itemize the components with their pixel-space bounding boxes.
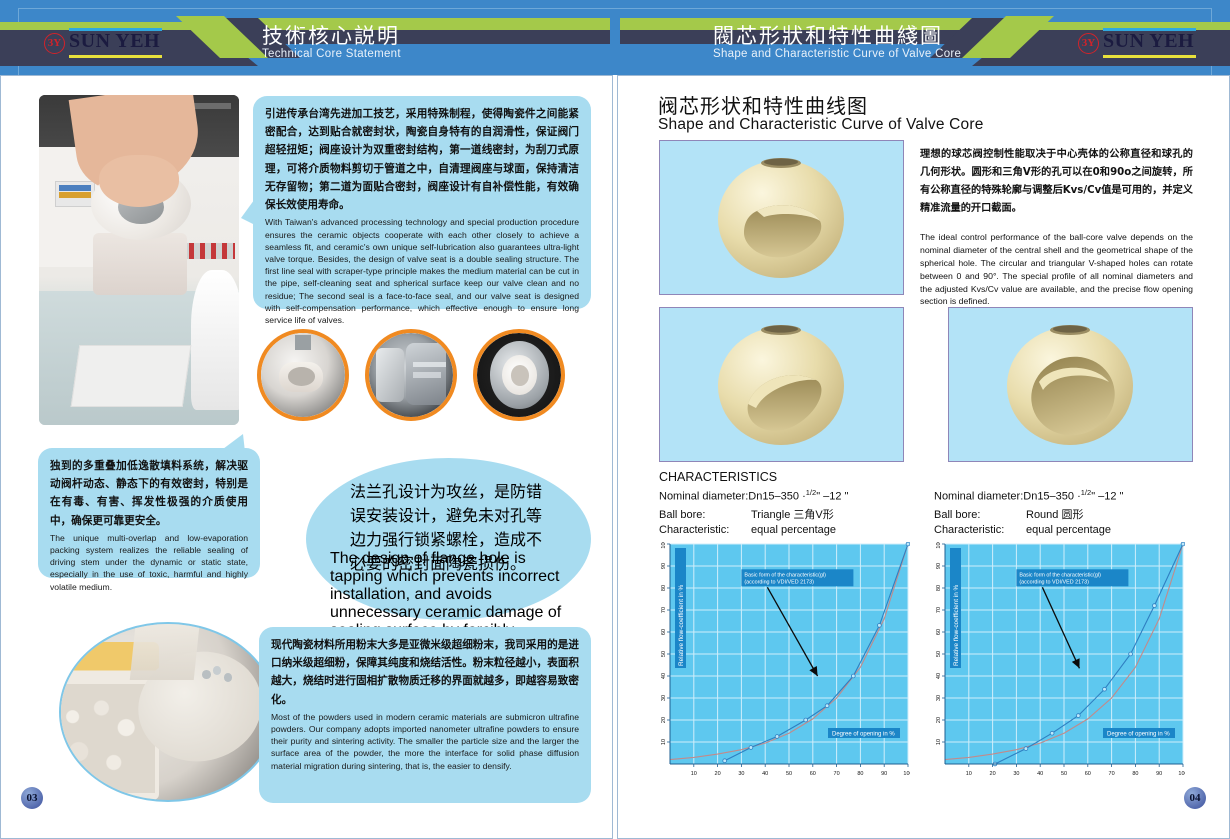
x-tick-label: 10 [966, 771, 972, 777]
page-header: 3Y SUN YEH 技術核心説明 Technical Core Stateme… [0, 0, 1230, 75]
right-page-title-en: Shape and Characteristic Curve of Valve … [658, 116, 984, 134]
header-left-title-cn: 技術核心説明 [262, 20, 400, 50]
y-tick-label: 50 [936, 651, 942, 657]
right-page-title-cn: 阀芯形状和特性曲线图 [658, 90, 868, 119]
logo-mark-icon: 3Y [44, 33, 65, 54]
image-valve-core-triangle [659, 307, 904, 462]
y-tick-label: 70 [936, 607, 942, 613]
bubble-packing-cn: 独到的多重叠加低逸散填料系统，解决驱动阀杆动态、静态下的有效密封，特别是在有毒、… [50, 457, 248, 530]
y-tick-label: 20 [936, 717, 942, 723]
logo-right: 3Y SUN YEH [1078, 26, 1198, 60]
data-point-marker [1153, 604, 1157, 608]
x-tick-label: 50 [786, 771, 792, 777]
spec-right-nominal-rest: " –12 " [1091, 491, 1123, 503]
spec-left-bore: Ball bore:Triangle 三角V形 [659, 506, 834, 522]
right-page: 阀芯形状和特性曲线图 Shape and Characteristic Curv… [617, 75, 1230, 839]
y-tick-label: 100 [661, 542, 667, 549]
left-page: 引进传承台湾先进加工技艺，采用特殊制程，使得陶瓷件之间能紧密配合，达到贴合就密封… [0, 75, 613, 839]
x-tick-label: 90 [881, 771, 887, 777]
y-tick-label: 30 [936, 695, 942, 701]
x-tick-label: 80 [1132, 771, 1138, 777]
data-point-marker [851, 674, 855, 678]
spec-left-bore-label: Ball bore: [659, 509, 751, 521]
spec-left-nominal-label: Nominal diameter:Dn15–350 · [659, 491, 806, 503]
annotation-line-2: (according to VDI/VED 2173) [1019, 579, 1089, 585]
valve-core-triangle-bore-icon [660, 308, 903, 461]
data-point-marker [906, 542, 910, 546]
spec-right-nominal: Nominal diameter:Dn15–350 ·1/2" –12 " [934, 488, 1123, 503]
y-tick-label: 10 [936, 739, 942, 745]
spec-right-characteristic: Characteristic:equal percentage [934, 524, 1111, 536]
spec-left-nominal-rest: " –12 " [816, 491, 848, 503]
bubble-packing-en: The unique multi-overlap and low-evapora… [50, 532, 248, 593]
data-point-marker [804, 718, 808, 722]
bubble-sealing-en: With Taiwan's advanced processing techno… [265, 216, 579, 326]
intro-paragraph-en: The ideal control performance of the bal… [920, 231, 1193, 308]
spec-right-bore-label: Ball bore: [934, 509, 1026, 521]
spec-right-bore: Ball bore:Round 圆形 [934, 506, 1083, 522]
logo-bar-bottom [69, 55, 162, 58]
bubble-powder-en: Most of the powders used in modern ceram… [271, 711, 579, 772]
brochure-spread: 3Y SUN YEH 技術核心説明 Technical Core Stateme… [0, 0, 1230, 839]
x-tick-label: 100 [1178, 771, 1185, 777]
x-tick-label: 50 [1061, 771, 1067, 777]
y-tick-label: 10 [661, 739, 667, 745]
x-tick-label: 20 [715, 771, 721, 777]
y-tick-label: 90 [661, 563, 667, 569]
bubble-sealing-cn: 引进传承台湾先进加工技艺，采用特殊制程，使得陶瓷件之间能紧密配合，达到贴合就密封… [265, 105, 579, 214]
logo-wordmark: SUN YEH [69, 30, 160, 53]
annotation-line-1: Basic form of the characteristic(gl) [1019, 572, 1101, 578]
data-point-marker [1103, 687, 1107, 691]
data-point-marker [1129, 652, 1133, 656]
data-point-marker [1076, 714, 1080, 718]
logo-bar-bottom [1103, 55, 1196, 58]
x-tick-label: 40 [1037, 771, 1043, 777]
x-tick-label: 10 [691, 771, 697, 777]
x-tick-label: 70 [834, 771, 840, 777]
x-tick-label: 60 [810, 771, 816, 777]
valve-core-round-bore-icon [949, 308, 1192, 461]
bubble-packing-system: 独到的多重叠加低逸散填料系统，解决驱动阀杆动态、静态下的有效密封，特别是在有毒、… [38, 448, 260, 578]
photo-ceramic-powder-beads [59, 622, 277, 802]
data-point-marker [1024, 747, 1028, 751]
bubble-sealing-technology: 引进传承台湾先进加工技艺，采用特殊制程，使得陶瓷件之间能紧密配合，达到贴合就密封… [253, 96, 591, 309]
header-right-title-en: Shape and Characteristic Curve of Valve … [713, 48, 961, 60]
photo-circle-valve-assembly [365, 329, 457, 421]
chart-round-bore: 1020304050607080901001020304050607080901… [923, 542, 1185, 786]
x-tick-label: 30 [1013, 771, 1019, 777]
chart-svg: 1020304050607080901001020304050607080901… [648, 542, 910, 786]
x-axis-label: Degree of opening in % [1107, 731, 1170, 737]
y-tick-label: 80 [661, 585, 667, 591]
y-tick-label: 60 [661, 629, 667, 635]
y-axis-label: Relative flow-coefficient in % [678, 584, 685, 666]
data-point-marker [1181, 542, 1185, 546]
data-point-marker [749, 746, 753, 750]
photo-ceramic-valve-core-in-hand [39, 95, 239, 425]
y-tick-label: 70 [661, 607, 667, 613]
spec-right-bore-value: Round 圆形 [1026, 509, 1083, 521]
spec-left-characteristic-label: Characteristic: [659, 524, 751, 536]
y-tick-label: 60 [936, 629, 942, 635]
annotation-line-2: (according to VDI/VED 2173) [744, 579, 814, 585]
spec-right-nominal-label: Nominal diameter:Dn15–350 · [934, 491, 1081, 503]
bubble-powder-cn: 现代陶瓷材料所用粉末大多是亚微米级超细粉末，我司采用的是进口纳米级超细粉，保障其… [271, 636, 579, 709]
x-tick-label: 80 [857, 771, 863, 777]
x-tick-label: 90 [1156, 771, 1162, 777]
spec-left-characteristic-value: equal percentage [751, 524, 836, 536]
spec-right-characteristic-label: Characteristic: [934, 524, 1026, 536]
spec-left-nominal-fraction: 1/2 [806, 488, 816, 497]
x-tick-label: 40 [762, 771, 768, 777]
data-point-marker [1050, 731, 1054, 735]
image-valve-core-top [659, 140, 904, 295]
logo-wordmark: SUN YEH [1103, 30, 1194, 53]
page-number-right: 04 [1184, 787, 1206, 809]
image-valve-core-round [948, 307, 1193, 462]
x-tick-label: 20 [990, 771, 996, 777]
data-point-marker [723, 759, 727, 763]
bubble-sealing-tail-icon [241, 196, 257, 230]
y-tick-label: 90 [936, 563, 942, 569]
photo-circle-valve-body [257, 329, 349, 421]
bubble-packing-tail-icon [219, 434, 251, 454]
spec-left-characteristic: Characteristic:equal percentage [659, 524, 836, 536]
chart-triangle-v-bore: 1020304050607080901001020304050607080901… [648, 542, 910, 786]
photo-circle-flange-face [473, 329, 565, 421]
x-tick-label: 60 [1085, 771, 1091, 777]
x-tick-label: 30 [738, 771, 744, 777]
x-tick-label: 100 [903, 771, 910, 777]
y-tick-label: 50 [661, 651, 667, 657]
spec-left-nominal: Nominal diameter:Dn15–350 ·1/2" –12 " [659, 488, 848, 503]
annotation-line-1: Basic form of the characteristic(gl) [744, 572, 826, 578]
spread-body: 引进传承台湾先进加工技艺，采用特殊制程，使得陶瓷件之间能紧密配合，达到贴合就密封… [0, 75, 1230, 839]
y-axis-label: Relative flow-coefficient in % [953, 584, 960, 666]
spec-right-characteristic-value: equal percentage [1026, 524, 1111, 536]
header-left-title-en: Technical Core Statement [262, 48, 401, 60]
data-point-marker [825, 704, 829, 708]
x-axis-label: Degree of opening in % [832, 731, 895, 737]
page-number-left: 03 [21, 787, 43, 809]
intro-paragraph-cn: 理想的球芯阀控制性能取决于中心壳体的公称直径和球孔的几何形状。圆形和三角V形的孔… [920, 146, 1193, 219]
header-right-title-cn: 閥芯形狀和特性曲綫圖 [713, 20, 943, 50]
valve-core-v-notch-icon [660, 141, 903, 294]
bubble-flange-hole: 法兰孔设计为攻丝，是防错误安装设计，避免未对孔等边力强行锁紧螺栓，造成不必要的密… [306, 458, 591, 620]
y-tick-label: 100 [936, 542, 942, 549]
chart-svg: 1020304050607080901001020304050607080901… [923, 542, 1185, 786]
y-tick-label: 40 [936, 673, 942, 679]
bubble-ceramic-powder: 现代陶瓷材料所用粉末大多是亚微米级超细粉末，我司采用的是进口纳米级超细粉，保障其… [259, 627, 591, 803]
y-tick-label: 30 [661, 695, 667, 701]
data-point-marker [878, 624, 882, 628]
spec-left-bore-value: Triangle 三角V形 [751, 509, 834, 521]
y-tick-label: 20 [661, 717, 667, 723]
characteristics-heading: CHARACTERISTICS [659, 470, 777, 484]
spec-right-nominal-fraction: 1/2 [1081, 488, 1091, 497]
logo-left: 3Y SUN YEH [44, 26, 164, 60]
data-point-marker [775, 735, 779, 739]
logo-mark-icon: 3Y [1078, 33, 1099, 54]
x-tick-label: 70 [1109, 771, 1115, 777]
y-tick-label: 80 [936, 585, 942, 591]
y-tick-label: 40 [661, 673, 667, 679]
